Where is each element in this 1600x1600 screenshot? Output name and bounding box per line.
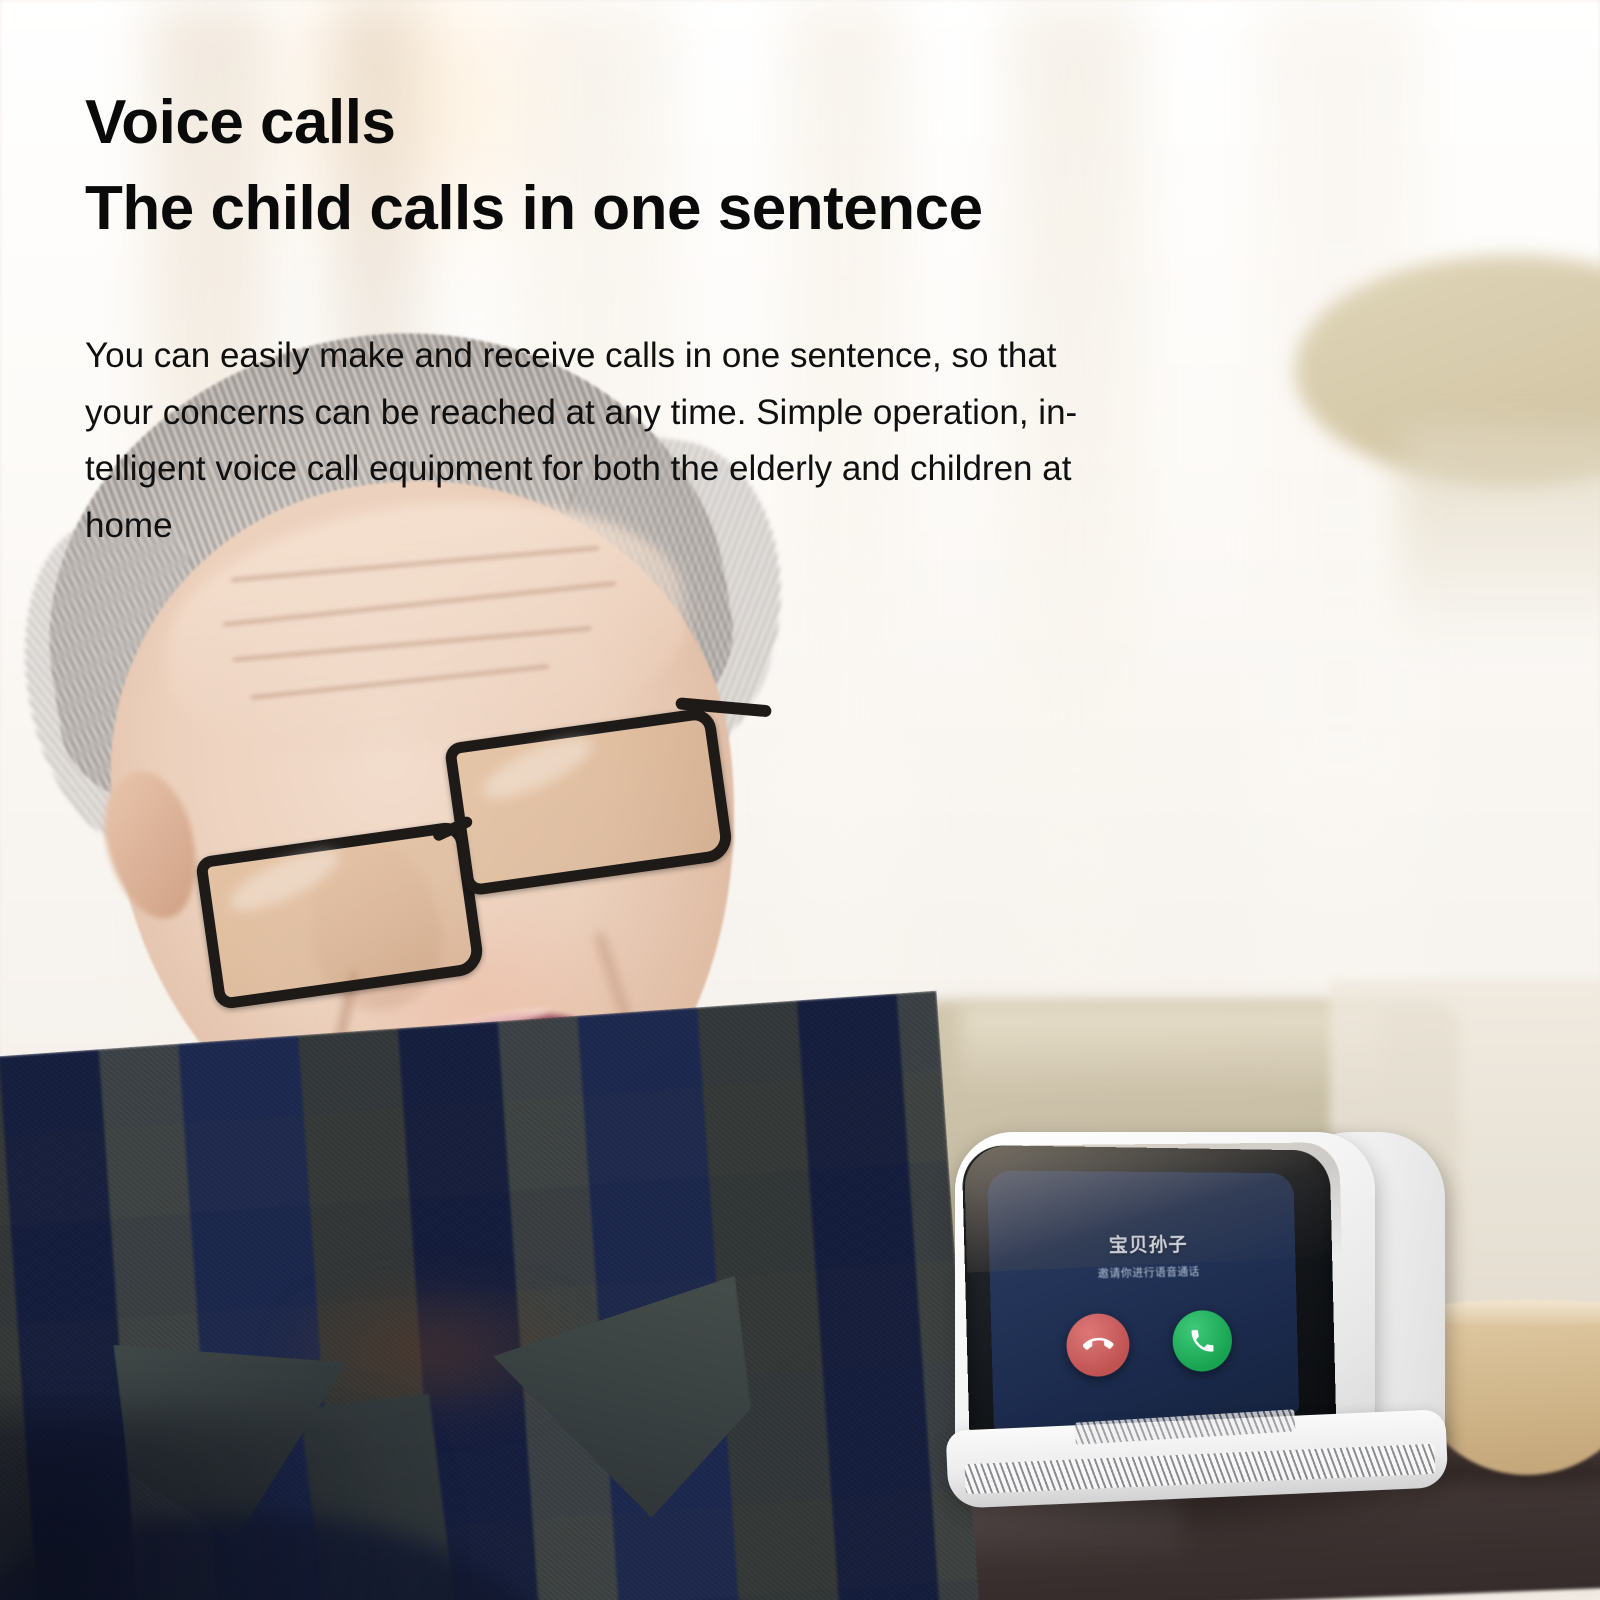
shoulder-shadow: [0, 1410, 440, 1600]
curtain-band: [1260, 0, 1420, 1100]
lamp-stem: [1400, 430, 1600, 650]
body-line-2: your concerns can be reached at any time…: [85, 385, 1205, 442]
call-action-row: [991, 1307, 1298, 1381]
product-marketing-banner: 时事纵横 . 3 .: [0, 0, 1600, 1600]
device-screen[interactable]: 宝贝孙子 邀请你进行语音通话: [987, 1170, 1299, 1431]
phone-answer-icon: [1188, 1326, 1217, 1357]
body-line-4: home: [85, 498, 1205, 555]
smart-display-speaker[interactable]: 宝贝孙子 邀请你进行语音通话: [955, 1120, 1445, 1540]
body-line-1: You can easily make and receive calls in…: [85, 328, 1205, 385]
body-paragraph: You can easily make and receive calls in…: [85, 328, 1205, 555]
caller-subtitle: 邀请你进行语音通话: [990, 1261, 1296, 1283]
body-line-3: telligent voice call equipment for both …: [85, 441, 1205, 498]
eyeglass-lens-right: [444, 706, 735, 896]
caller-name: 宝贝孙子: [989, 1229, 1296, 1260]
sofa-highlight: [960, 1005, 1380, 1095]
decline-call-button[interactable]: [1066, 1313, 1130, 1378]
phone-hangup-icon: [1083, 1329, 1114, 1361]
headline-line-2: The child calls in one sentence: [85, 178, 983, 240]
accept-call-button[interactable]: [1172, 1310, 1233, 1373]
headline-line-1: Voice calls: [85, 92, 395, 154]
